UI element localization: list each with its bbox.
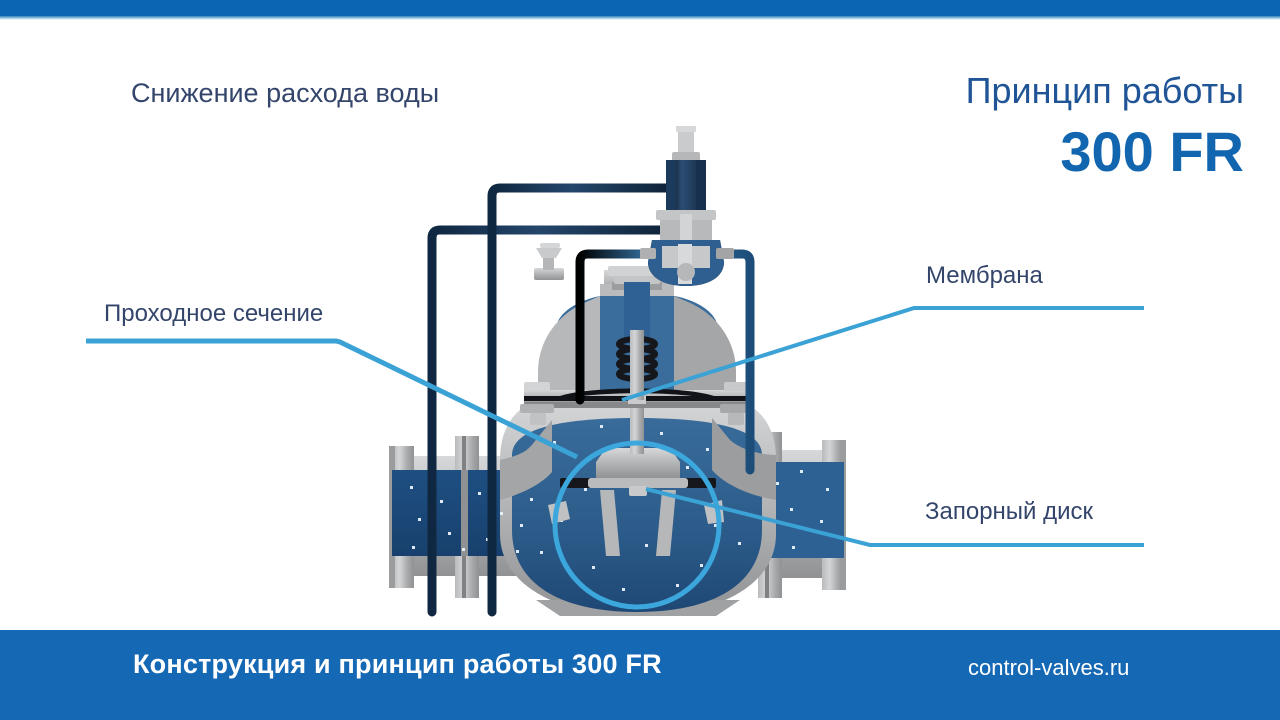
bonnet-assembly	[520, 266, 754, 425]
footer-url: control-valves.ru	[968, 655, 1129, 681]
needle-valve	[534, 243, 564, 280]
pilot-valve-assembly	[640, 126, 734, 286]
valve-cutaway-diagram	[0, 0, 1280, 720]
slide-canvas: Снижение расхода воды Принцип работы 300…	[0, 0, 1280, 720]
callout-membrane: Мембрана	[926, 262, 1043, 290]
callout-closing-disc: Запорный диск	[925, 498, 1093, 526]
callout-flow-section: Проходное сечение	[104, 300, 323, 328]
footer-title: Конструкция и принцип работы 300 FR	[133, 649, 662, 680]
